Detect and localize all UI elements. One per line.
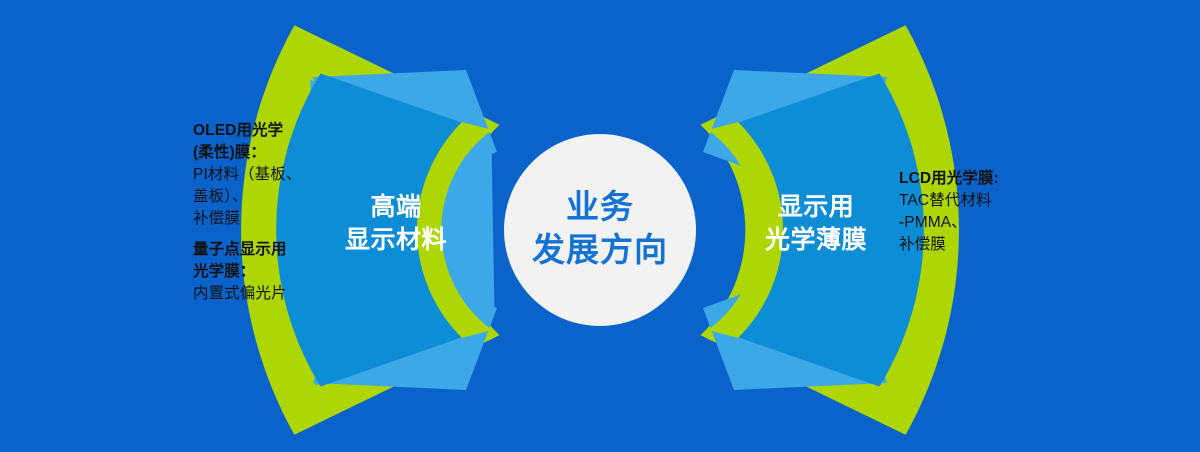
diagram-canvas: OLED用光学 (柔性)膜： PI材料（基板、 盖板）、 补偿膜 量子点显示用 … — [0, 0, 1200, 452]
fan-diagram-graphic — [0, 0, 1200, 452]
center-circle — [504, 134, 696, 326]
